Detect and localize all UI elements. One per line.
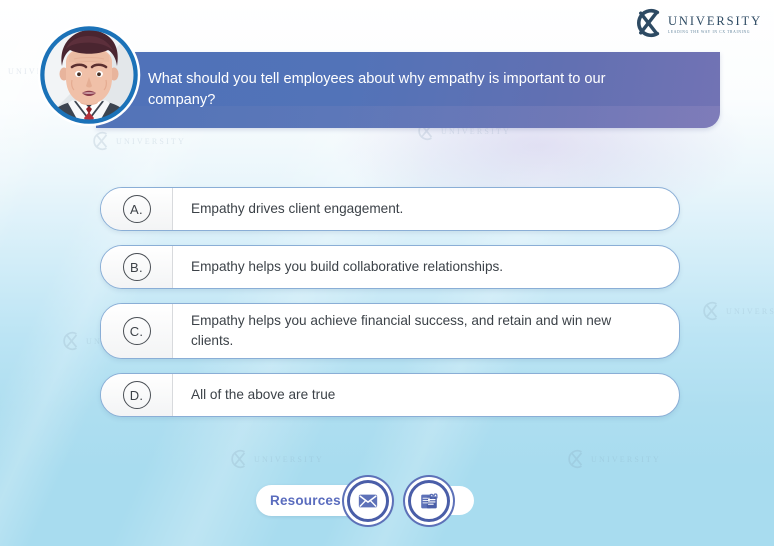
option-text: All of the above are true bbox=[173, 374, 679, 416]
documents-icon bbox=[418, 490, 440, 512]
option-letter: C. bbox=[123, 317, 151, 345]
answer-options-list: A. Empathy drives client engagement. B. … bbox=[100, 187, 680, 431]
background-watermark: UNIVERSITY bbox=[700, 300, 774, 322]
background-watermark: UNIVERSITY bbox=[565, 448, 661, 470]
watermark-text: UNIVERSITY bbox=[116, 137, 186, 146]
question-text: What should you tell employees about why… bbox=[148, 69, 668, 110]
answer-option-c[interactable]: C. Empathy helps you achieve financial s… bbox=[100, 303, 680, 359]
email-resource-button[interactable] bbox=[347, 480, 389, 522]
option-letter-wrap: B. bbox=[101, 246, 173, 288]
watermark-text: UNIVERSITY bbox=[254, 455, 324, 464]
instructor-avatar bbox=[36, 22, 142, 128]
background-watermark: UNIVERSITY bbox=[228, 448, 324, 470]
option-text: Empathy drives client engagement. bbox=[173, 188, 679, 230]
watermark-text: UNIVERSITY bbox=[726, 307, 774, 316]
watermark-logo-icon bbox=[0, 60, 4, 82]
logo-tagline: LEADING THE WAY IN CX TRAINING bbox=[668, 30, 762, 34]
option-letter-wrap: C. bbox=[101, 304, 173, 358]
question-banner: What should you tell employees about why… bbox=[96, 52, 720, 128]
option-letter-wrap: D. bbox=[101, 374, 173, 416]
option-letter-wrap: A. bbox=[101, 188, 173, 230]
answer-option-a[interactable]: A. Empathy drives client engagement. bbox=[100, 187, 680, 231]
resources-bar: Resources bbox=[256, 483, 393, 517]
option-text: Empathy helps you achieve financial succ… bbox=[173, 304, 679, 358]
watermark-logo-icon bbox=[90, 130, 112, 152]
avatar-illustration-icon bbox=[36, 22, 142, 128]
watermark-logo-icon bbox=[700, 300, 722, 322]
quiz-slide: UNIVERSITY UNIVERSITY UNIVERSITY UNIVERS… bbox=[0, 0, 774, 546]
resources-pill: Resources bbox=[256, 485, 393, 516]
logo-title: UNIVERSITY bbox=[668, 14, 762, 29]
envelope-icon bbox=[357, 490, 379, 512]
watermark-logo-icon bbox=[228, 448, 250, 470]
watermark-text: UNIVERSITY bbox=[591, 455, 661, 464]
option-text: Empathy helps you build collaborative re… bbox=[173, 246, 679, 288]
option-letter: B. bbox=[123, 253, 151, 281]
answer-option-b[interactable]: B. Empathy helps you build collaborative… bbox=[100, 245, 680, 289]
watermark-logo-icon bbox=[60, 330, 82, 352]
brand-logo: UNIVERSITY LEADING THE WAY IN CX TRAININ… bbox=[631, 6, 762, 40]
answer-option-d[interactable]: D. All of the above are true bbox=[100, 373, 680, 417]
option-letter: D. bbox=[123, 381, 151, 409]
watermark-logo-icon bbox=[565, 448, 587, 470]
documents-resource-button[interactable] bbox=[408, 480, 450, 522]
x-in-c-monogram-icon bbox=[631, 6, 665, 40]
background-watermark: UNIVERSITY bbox=[90, 130, 186, 152]
resources-label: Resources bbox=[270, 493, 341, 508]
option-letter: A. bbox=[123, 195, 151, 223]
